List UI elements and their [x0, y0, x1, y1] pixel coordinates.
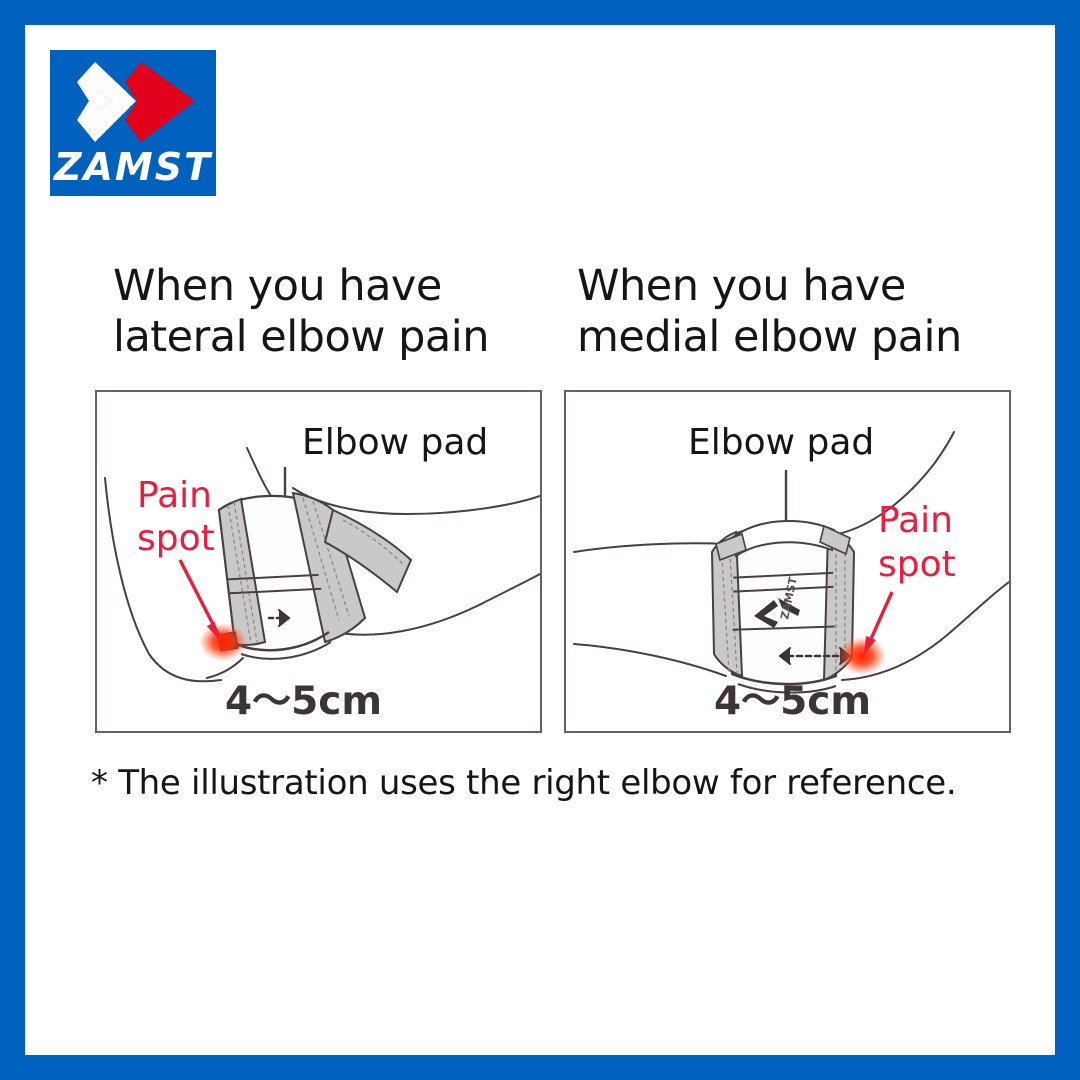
- label-pain-spot-line1: Pain: [137, 475, 212, 516]
- label-elbow-pad: Elbow pad: [302, 422, 488, 463]
- illustration-panel-medial: ZAMST Elbow pad Pain spot 4～5cm: [564, 390, 1011, 733]
- illustration-panel-lateral: Elbow pad Pain spot 4～5cm: [95, 390, 542, 733]
- lateral-elbow-illustration: Elbow pad Pain spot 4～5cm: [97, 392, 540, 731]
- label-pain-spot-line2: spot: [878, 544, 956, 585]
- pain-spot-glow: [838, 637, 886, 675]
- zamst-wordmark: ZAMST: [50, 147, 216, 187]
- pain-spot-glow: [199, 623, 247, 661]
- elbow-brace: ZAMST: [712, 521, 854, 693]
- heading-lateral: When you have lateral elbow pain: [113, 261, 543, 363]
- zamst-logo: ZAMST: [50, 50, 216, 196]
- label-measure-lateral: 4～5cm: [225, 679, 382, 724]
- heading-medial: When you have medial elbow pain: [577, 261, 1017, 363]
- label-elbow-pad: Elbow pad: [688, 422, 874, 463]
- label-pain-spot-line1: Pain: [878, 500, 953, 541]
- label-pain-spot-line2: spot: [137, 518, 215, 559]
- footnote: * The illustration uses the right elbow …: [91, 761, 956, 805]
- label-measure-medial: 4～5cm: [714, 679, 871, 724]
- poster-canvas: ZAMST When you have lateral elbow pain W…: [25, 25, 1055, 1055]
- zamst-logo-mark: [73, 60, 199, 144]
- medial-elbow-illustration: ZAMST Elbow pad Pain spot 4～5cm: [566, 392, 1009, 731]
- poster-root: ZAMST When you have lateral elbow pain W…: [0, 0, 1080, 1080]
